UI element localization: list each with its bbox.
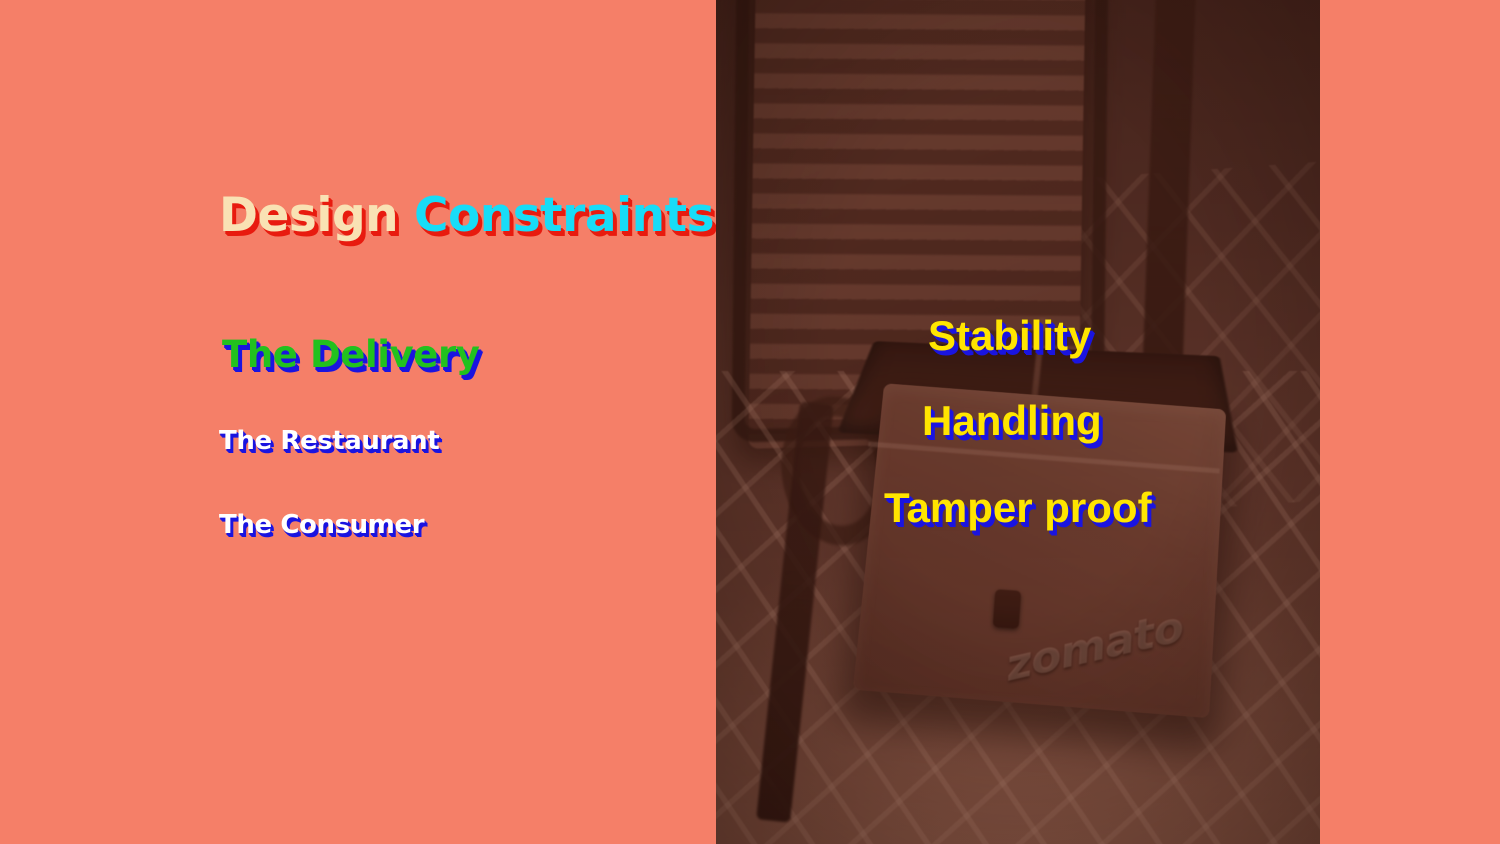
bullet-the-consumer[interactable]: The Consumer bbox=[219, 512, 424, 538]
callout-tamper-proof: Tamper proof bbox=[884, 487, 1152, 529]
slide-title: Design Constraints bbox=[219, 192, 714, 239]
bullet-the-delivery[interactable]: The Delivery bbox=[222, 336, 480, 373]
callout-stability: Stability bbox=[928, 315, 1091, 357]
slide-title-space bbox=[398, 188, 414, 243]
callout-handling: Handling bbox=[922, 400, 1102, 442]
bullet-the-restaurant[interactable]: The Restaurant bbox=[219, 428, 439, 454]
slide-title-word-constraints: Constraints bbox=[414, 188, 714, 243]
photo-panel: zomato Stability Handling Tamper proof bbox=[716, 0, 1320, 844]
left-content-column: Design Constraints The Delivery The Rest… bbox=[0, 0, 716, 844]
slide-canvas: Design Constraints The Delivery The Rest… bbox=[0, 0, 1500, 844]
slide-title-word-design: Design bbox=[219, 188, 398, 243]
